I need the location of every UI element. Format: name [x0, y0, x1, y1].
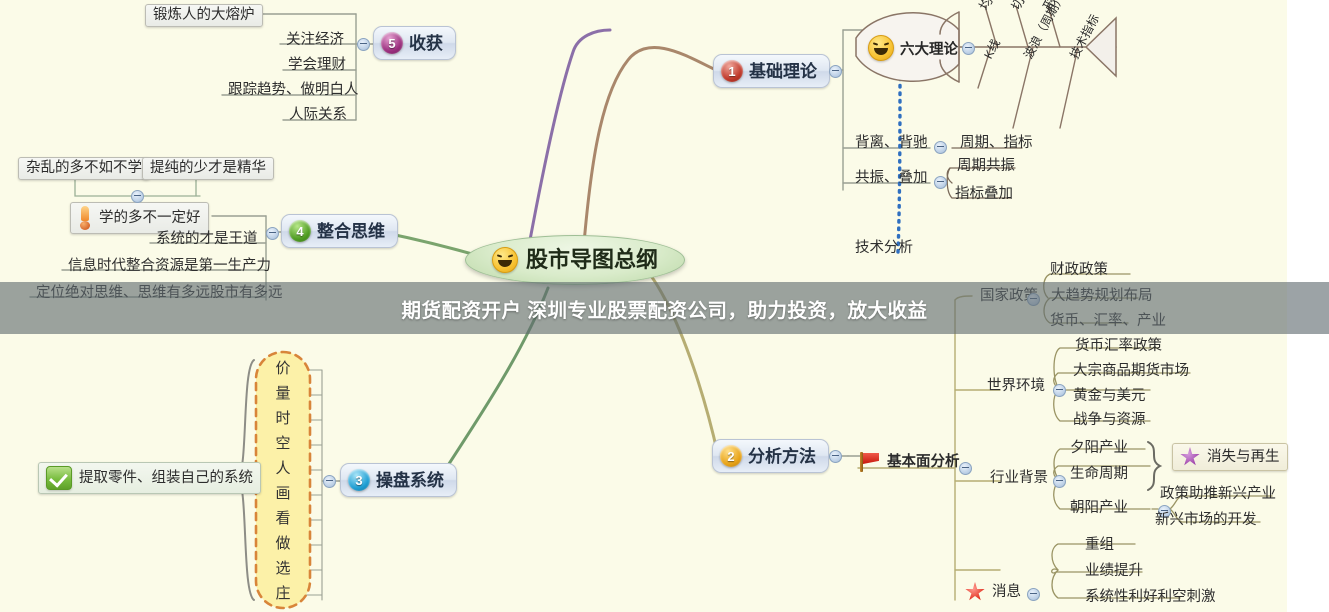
- sunrise-sub-1[interactable]: 新兴市场的开发: [1150, 512, 1262, 531]
- check-icon: [46, 466, 72, 490]
- collapse-toggle-basic-theory[interactable]: [829, 65, 842, 78]
- smiley-icon-fishbone: [868, 35, 894, 61]
- trading-item-8[interactable]: 选: [271, 561, 295, 576]
- badge-2: 2: [720, 445, 742, 467]
- trading-item-5[interactable]: 画: [271, 486, 295, 501]
- smiley-icon: [492, 247, 518, 273]
- trading-item-3[interactable]: 空: [271, 436, 295, 451]
- basic-theory-child-1-sub-0[interactable]: 周期共振: [952, 158, 1020, 177]
- promo-banner: 期货配资开户 深圳专业股票配资公司，助力投资，放大收益: [0, 282, 1329, 334]
- trading-system-note[interactable]: 提取零件、组装自己的系统: [38, 462, 261, 494]
- industry-sub-2[interactable]: 朝阳产业: [1065, 500, 1133, 519]
- basic-theory-child-1[interactable]: 共振、叠加: [850, 170, 933, 189]
- world-sub-1[interactable]: 大宗商品期货市场: [1068, 363, 1194, 382]
- badge-3: 3: [348, 469, 370, 491]
- trading-system-note-label: 提取零件、组装自己的系统: [79, 471, 253, 486]
- badge-4: 4: [289, 220, 311, 242]
- harvest-child-2[interactable]: 跟踪趋势、做明白人: [223, 82, 364, 101]
- branch-integration[interactable]: 4 整合思维: [281, 214, 398, 248]
- industry-brace-note-label: 消失与再生: [1207, 450, 1280, 465]
- mindmap-screenshot: 股市导图总纲 5 收获 锻炼人的大熔炉 关注经济 学会理财 跟踪趋势、做明白人 …: [0, 0, 1329, 612]
- news-group-label: 消息: [992, 585, 1021, 600]
- root-label: 股市导图总纲: [526, 249, 658, 271]
- integration-child-0[interactable]: 学的多不一定好: [70, 202, 209, 234]
- world-sub-3[interactable]: 战争与资源: [1068, 412, 1151, 431]
- fishbone-title[interactable]: 六大理论: [868, 35, 958, 61]
- collapse-toggle-trading-system[interactable]: [323, 475, 336, 488]
- integration-child-0-label: 学的多不一定好: [99, 211, 201, 226]
- news-group-label-wrap[interactable]: 消息: [965, 582, 1021, 602]
- collapse-toggle-analysis-method[interactable]: [829, 450, 842, 463]
- collapse-toggle-news[interactable]: [1027, 588, 1040, 601]
- industry-sub-1[interactable]: 生命周期: [1065, 466, 1133, 485]
- integration-child-2[interactable]: 信息时代整合资源是第一生产力: [63, 258, 276, 277]
- trading-item-7[interactable]: 做: [271, 536, 295, 551]
- industry-sub-0[interactable]: 夕阳产业: [1065, 440, 1133, 459]
- collapse-toggle-world[interactable]: [1053, 384, 1066, 397]
- collapse-toggle-fundamental[interactable]: [959, 462, 972, 475]
- branch-trading-system-label: 操盘系统: [376, 472, 444, 489]
- sunrise-sub-0[interactable]: 政策助推新兴产业: [1155, 486, 1281, 505]
- basic-theory-child-1-sub-1[interactable]: 指标叠加: [950, 186, 1018, 205]
- harvest-child-0[interactable]: 关注经济: [281, 32, 349, 51]
- star-icon-red: [965, 582, 985, 602]
- collapse-toggle-harvest[interactable]: [357, 38, 370, 51]
- harvest-child-1[interactable]: 学会理财: [283, 57, 351, 76]
- root-node[interactable]: 股市导图总纲: [465, 235, 685, 285]
- branch-analysis-method-label: 分析方法: [748, 448, 816, 465]
- branch-harvest-label: 收获: [409, 35, 443, 52]
- branch-basic-theory[interactable]: 1 基础理论: [713, 54, 830, 88]
- policy-sub-0[interactable]: 财政政策: [1045, 262, 1113, 281]
- integration-child-1[interactable]: 系统的才是王道: [151, 231, 263, 250]
- branch-analysis-method[interactable]: 2 分析方法: [712, 439, 829, 473]
- collapse-toggle-integration-sub[interactable]: [131, 190, 144, 203]
- trading-item-6[interactable]: 看: [271, 511, 295, 526]
- trading-item-1[interactable]: 量: [271, 386, 295, 401]
- trading-item-4[interactable]: 人: [271, 461, 295, 476]
- harvest-child-3[interactable]: 人际关系: [284, 107, 352, 126]
- news-sub-2[interactable]: 系统性利好利空刺激: [1080, 589, 1221, 608]
- fundamental-analysis-label: 基本面分析: [887, 455, 960, 470]
- collapse-toggle-resonance[interactable]: [934, 176, 947, 189]
- branch-integration-label: 整合思维: [317, 223, 385, 240]
- trading-item-9[interactable]: 庄: [271, 586, 295, 601]
- collapse-toggle-divergence[interactable]: [934, 141, 947, 154]
- branch-harvest[interactable]: 5 收获: [373, 26, 456, 60]
- industry-group-label[interactable]: 行业背景: [985, 470, 1053, 489]
- technical-analysis-annotation[interactable]: 技术分析: [850, 240, 918, 259]
- trading-item-2[interactable]: 时: [271, 411, 295, 426]
- news-sub-1[interactable]: 业绩提升: [1080, 563, 1148, 582]
- basic-theory-child-0[interactable]: 背离、背驰: [850, 135, 933, 154]
- world-sub-2[interactable]: 黄金与美元: [1068, 388, 1151, 407]
- branch-trading-system[interactable]: 3 操盘系统: [340, 463, 457, 497]
- integration-sub-0[interactable]: 杂乱的多不如不学: [18, 157, 150, 180]
- branch-basic-theory-label: 基础理论: [749, 63, 817, 80]
- flag-icon: [858, 452, 880, 472]
- world-sub-0[interactable]: 货币汇率政策: [1070, 338, 1167, 357]
- fishbone-title-label: 六大理论: [900, 38, 958, 59]
- fundamental-analysis[interactable]: 基本面分析: [858, 452, 960, 472]
- industry-brace-note[interactable]: 消失与再生: [1172, 443, 1288, 471]
- trading-item-0[interactable]: 价: [271, 361, 295, 376]
- promo-banner-text: 期货配资开户 深圳专业股票配资公司，助力投资，放大收益: [402, 294, 928, 323]
- basic-theory-child-0-sub-0[interactable]: 周期、指标: [955, 135, 1038, 154]
- integration-sub-1[interactable]: 提纯的少才是精华: [142, 157, 274, 180]
- star-icon-purple: [1180, 447, 1200, 467]
- harvest-callout[interactable]: 锻炼人的大熔炉: [145, 4, 263, 27]
- badge-1: 1: [721, 60, 743, 82]
- collapse-toggle-integration[interactable]: [266, 227, 279, 240]
- world-group-label[interactable]: 世界环境: [982, 378, 1050, 397]
- exclamation-icon: [78, 206, 92, 230]
- collapse-toggle-fishbone[interactable]: [962, 42, 975, 55]
- badge-5: 5: [381, 32, 403, 54]
- news-sub-0[interactable]: 重组: [1080, 537, 1119, 556]
